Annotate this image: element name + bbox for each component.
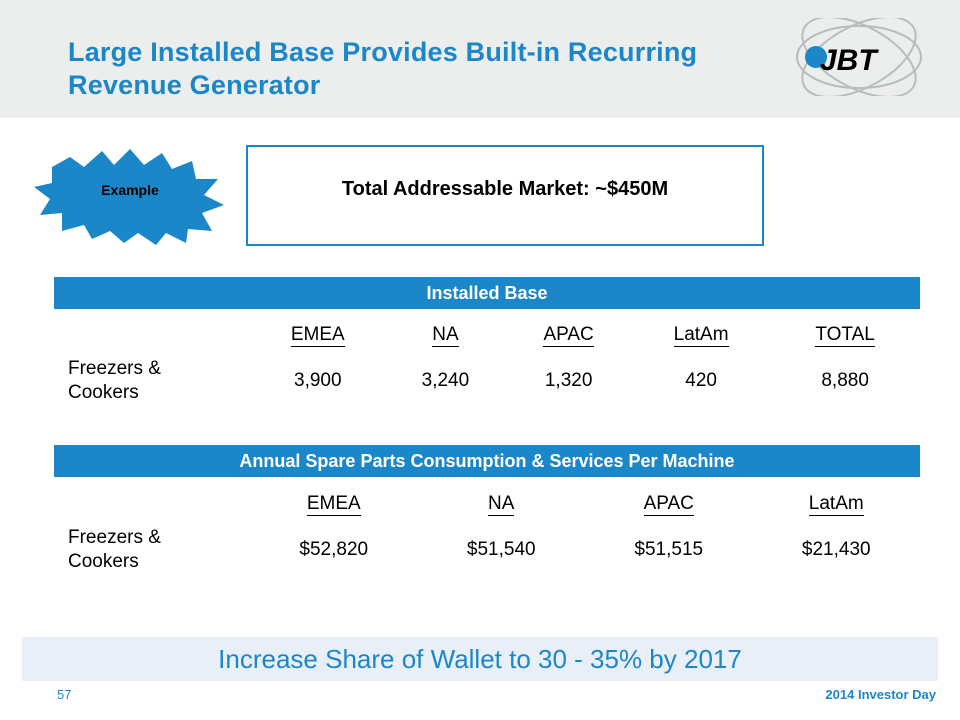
row-label-line2: Cookers	[68, 381, 250, 405]
column-header-apac: APAC	[505, 318, 632, 352]
column-header-total: TOTAL	[770, 318, 920, 352]
cell-apac: $51,515	[585, 521, 753, 579]
row-label-freezers-cookers: Freezers & Cookers	[54, 352, 250, 410]
page-number: 57	[57, 687, 71, 702]
bottom-banner-text: Increase Share of Wallet to 30 - 35% by …	[22, 644, 938, 675]
example-burst-label: Example	[32, 182, 228, 198]
table-row: Freezers & Cookers $52,820 $51,540 $51,5…	[54, 521, 920, 579]
column-header-latam: LatAm	[753, 487, 921, 521]
installed-base-band: Installed Base	[54, 277, 920, 309]
cell-emea: 3,900	[250, 352, 386, 410]
cell-na: $51,540	[418, 521, 586, 579]
spare-parts-band: Annual Spare Parts Consumption & Service…	[54, 445, 920, 477]
row-label-line1: Freezers &	[68, 526, 250, 550]
cell-emea: $52,820	[250, 521, 418, 579]
table-header-row: EMEA NA APAC LatAm	[54, 487, 920, 521]
header-spacer	[54, 487, 250, 521]
spare-parts-table: EMEA NA APAC LatAm Freezers & Cookers $5…	[54, 487, 920, 579]
header-spacer	[54, 318, 250, 352]
table-header-row: EMEA NA APAC LatAm TOTAL	[54, 318, 920, 352]
row-label-line2: Cookers	[68, 550, 250, 574]
column-header-emea: EMEA	[250, 318, 386, 352]
column-header-latam: LatAm	[632, 318, 770, 352]
column-header-na: NA	[386, 318, 506, 352]
page-title: Large Installed Base Provides Built-in R…	[68, 36, 708, 102]
row-label-freezers-cookers: Freezers & Cookers	[54, 521, 250, 579]
column-header-na: NA	[418, 487, 586, 521]
tam-text: Total Addressable Market: ~$450M	[246, 178, 764, 201]
cell-latam: $21,430	[753, 521, 921, 579]
cell-na: 3,240	[386, 352, 506, 410]
footer-event: 2014 Investor Day	[825, 687, 936, 702]
installed-base-table: EMEA NA APAC LatAm TOTAL Freezers & Cook…	[54, 318, 920, 410]
table-row: Freezers & Cookers 3,900 3,240 1,320 420…	[54, 352, 920, 410]
cell-latam: 420	[632, 352, 770, 410]
row-label-line1: Freezers &	[68, 357, 250, 381]
svg-text:JBT: JBT	[820, 44, 879, 77]
slide: Large Installed Base Provides Built-in R…	[0, 0, 960, 720]
column-header-emea: EMEA	[250, 487, 418, 521]
cell-total: 8,880	[770, 352, 920, 410]
jbt-logo: JBT	[784, 18, 934, 96]
cell-apac: 1,320	[505, 352, 632, 410]
column-header-apac: APAC	[585, 487, 753, 521]
